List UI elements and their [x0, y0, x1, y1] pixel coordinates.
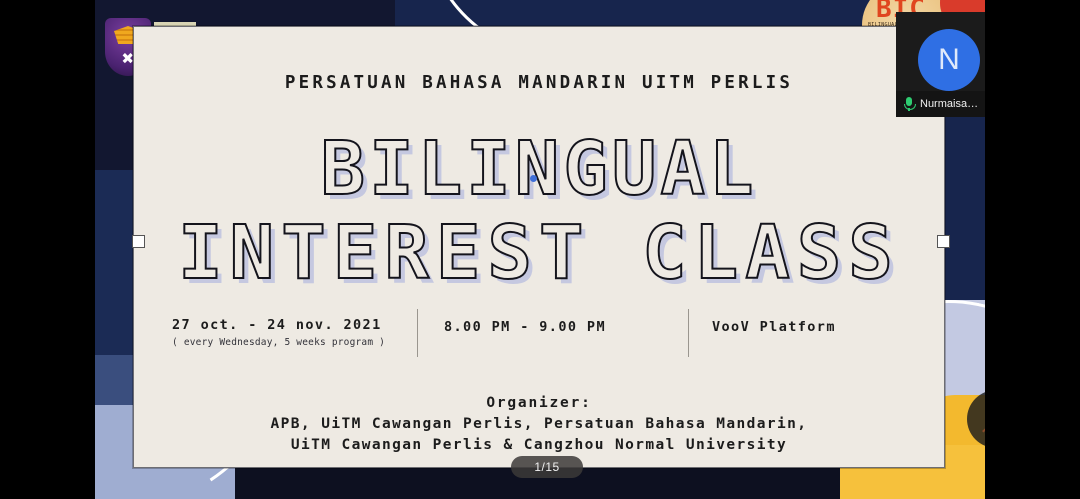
meeting-screen-share-view: ✖ 中文系标志 BIC BILINGUAL INTEREST CLASS PER… [0, 0, 1080, 499]
letterbox-left [0, 0, 95, 499]
slide-resize-handle-left[interactable] [132, 235, 145, 248]
decorative-blue-dot [530, 175, 537, 182]
avatar: N [918, 29, 980, 91]
organizer-line-1: APB, UiTM Cawangan Perlis, Persatuan Bah… [134, 416, 944, 432]
info-divider-1 [417, 309, 418, 357]
info-platform-value: VooV Platform [712, 319, 836, 335]
info-divider-2 [688, 309, 689, 357]
slide-info-row: 27 oct. - 24 nov. 2021 ( every Wednesday… [172, 309, 906, 361]
slide-title-line-2: INTEREST CLASS [134, 211, 944, 295]
organizer-line-2: UiTM Cawangan Perlis & Cangzhou Normal U… [134, 437, 944, 453]
info-date-note: ( every Wednesday, 5 weeks program ) [172, 337, 385, 348]
info-time-value: 8.00 PM - 9.00 PM [444, 319, 606, 335]
microphone-on-icon [902, 96, 916, 112]
info-column-date: 27 oct. - 24 nov. 2021 ( every Wednesday… [172, 317, 385, 348]
info-date-value: 27 oct. - 24 nov. 2021 [172, 317, 385, 333]
letterbox-right [985, 0, 1080, 499]
slide-kicker-text: PERSATUAN BAHASA MANDARIN UITM PERLIS [134, 73, 944, 93]
presentation-slide[interactable]: PERSATUAN BAHASA MANDARIN UITM PERLIS BI… [133, 26, 945, 468]
slide-resize-handle-right[interactable] [937, 235, 950, 248]
slide-title-line-1: BILINGUAL [134, 127, 944, 211]
participant-name: Nurmaisa… [920, 98, 978, 110]
organizer-block: Organizer: APB, UiTM Cawangan Perlis, Pe… [134, 395, 944, 453]
info-column-time: 8.00 PM - 9.00 PM [444, 319, 606, 335]
slide-title: BILINGUAL INTEREST CLASS [134, 127, 944, 295]
info-column-platform: VooV Platform [712, 319, 836, 335]
page-indicator: 1/15 [511, 456, 583, 478]
organizer-heading: Organizer: [134, 395, 944, 411]
